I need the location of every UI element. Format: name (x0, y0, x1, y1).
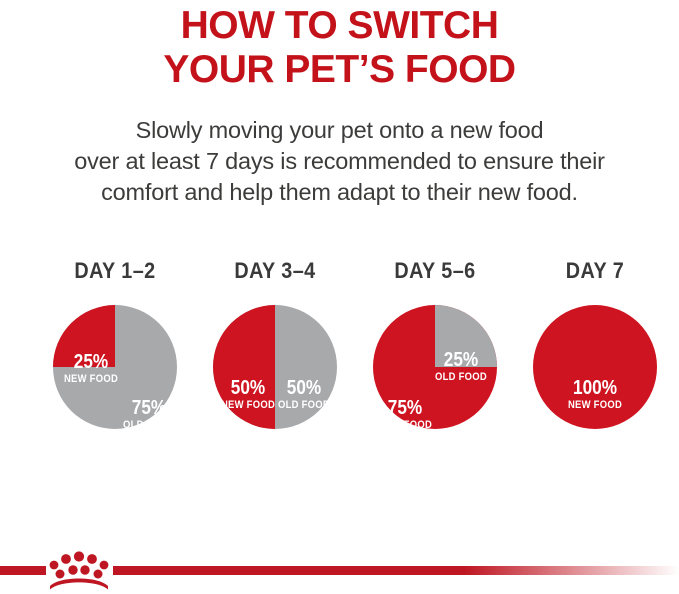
pie-slice-percent: 75% (371, 398, 438, 418)
pie-graphic (212, 304, 338, 430)
page-title-line-1: HOW TO SWITCH (0, 4, 679, 48)
pie-day-label: DAY 3–4 (199, 258, 352, 284)
pie-slice-percent: 25% (427, 350, 494, 370)
page-title-line-2: YOUR PET’S FOOD (0, 48, 679, 92)
pie-slice-label-new-food: 75% NEW FOOD (371, 398, 438, 431)
intro-line-3: comfort and help them adapt to their new… (0, 177, 679, 208)
footer-rule-right (113, 566, 679, 575)
pie-chart-day-7: DAY 7 100% NEW FOOD (510, 258, 679, 438)
intro-line-1: Slowly moving your pet onto a new food (0, 115, 679, 146)
intro-paragraph: Slowly moving your pet onto a new food o… (0, 115, 679, 208)
pie-slice-name: NEW FOOD (57, 374, 124, 385)
pie-slice-label-old-food: 50% OLD FOOD (271, 378, 336, 411)
pie-chart-day-1-2: DAY 1–2 25% NEW FOOD 75% OLD FOOD (30, 258, 200, 438)
footer (0, 534, 679, 594)
pie-slice-label-old-food: 75% OLD FOOD (115, 398, 182, 431)
pie-day-label: DAY 7 (519, 258, 672, 284)
pie-chart-day-3-4: DAY 3–4 50% NEW FOOD 50% OLD FOOD (190, 258, 360, 438)
pie-slice-percent: 100% (561, 378, 628, 398)
pie-slice-name: OLD FOOD (115, 420, 182, 431)
pie-slice-percent: 75% (115, 398, 182, 418)
pie-day-label: DAY 5–6 (359, 258, 512, 284)
pie-slice-name: OLD FOOD (271, 400, 336, 411)
pie-chart-day-5-6: DAY 5–6 25% OLD FOOD 75% NEW FOOD (350, 258, 520, 438)
pie-day-label: DAY 1–2 (39, 258, 192, 284)
intro-line-2: over at least 7 days is recommended to e… (0, 146, 679, 177)
royal-canin-crown-icon (46, 550, 112, 590)
pie-slice-name: NEW FOOD (561, 400, 628, 411)
pie-slice-percent: 25% (57, 352, 124, 372)
pie-slice-name: NEW FOOD (371, 420, 438, 431)
pie-slice-name: OLD FOOD (427, 372, 494, 383)
footer-rule-left (0, 566, 46, 575)
page-title: HOW TO SWITCH YOUR PET’S FOOD (0, 4, 679, 92)
pie-slice-label-new-food: 100% NEW FOOD (561, 378, 628, 411)
pie-chart-row: DAY 1–2 25% NEW FOOD 75% OLD FOOD DAY 3–… (0, 258, 679, 438)
pie-slice-percent: 50% (271, 378, 336, 398)
pie-graphic (532, 304, 658, 430)
pie-slice-label-new-food: 25% NEW FOOD (57, 352, 124, 385)
pie-slice-label-old-food: 25% OLD FOOD (427, 350, 494, 383)
